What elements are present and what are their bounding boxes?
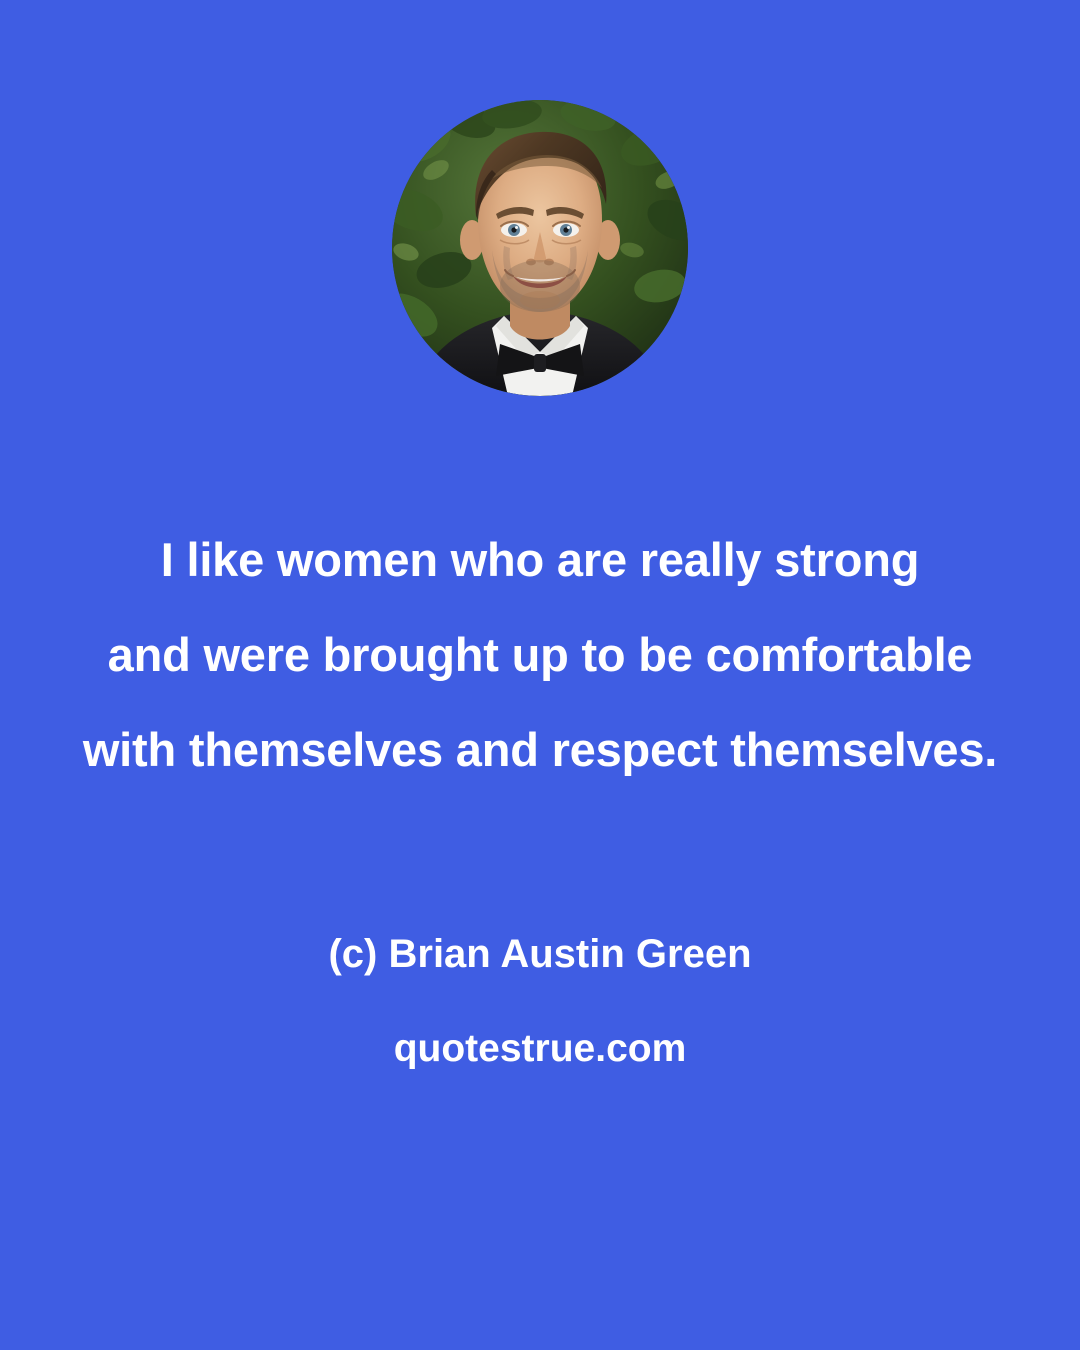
quote-text: I like women who are really strong and w… [40,512,1040,797]
quote-line: and were brought up to be comfortable [40,607,1040,702]
quote-author: (c) Brian Austin Green [40,925,1040,983]
quote-line: with themselves and respect themselves. [40,702,1040,797]
avatar [392,100,688,396]
quote-line: I like women who are really strong [40,512,1040,607]
author-portrait-photo [392,100,688,396]
source-website: quotestrue.com [40,1021,1040,1077]
attribution: (c) Brian Austin Green quotestrue.com [40,925,1040,1077]
quote-card: I like women who are really strong and w… [0,0,1080,1350]
